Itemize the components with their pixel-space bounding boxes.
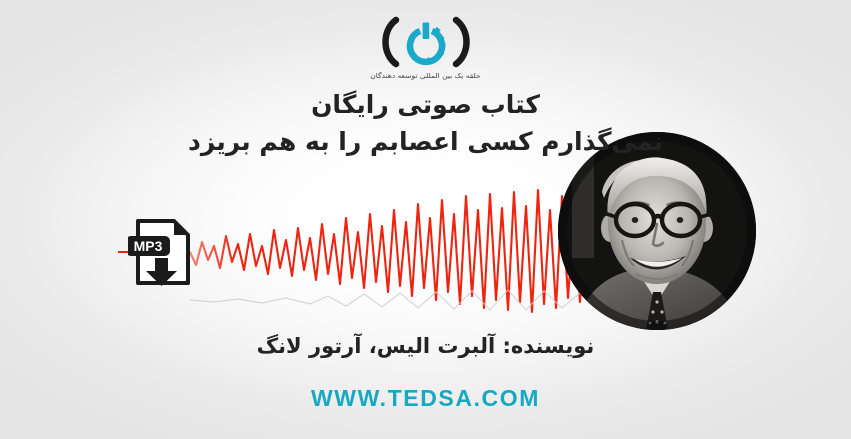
file-folded-corner bbox=[174, 221, 188, 235]
eye-right bbox=[677, 217, 684, 223]
eye-left bbox=[632, 217, 639, 223]
power-button-icon bbox=[374, 14, 478, 70]
mp3-download-file-icon[interactable]: MP3 bbox=[128, 218, 194, 286]
headings-block: کتاب صوتی رایگان نمی‌گذارم کسی اعصابم را… bbox=[0, 88, 851, 159]
mp3-badge-label: MP3 bbox=[134, 238, 163, 254]
page-title-line2: نمی‌گذارم کسی اعصابم را به هم بریزد bbox=[0, 125, 851, 159]
bracket-left bbox=[385, 20, 396, 64]
logo-caption-text: حلقه یک بین المللی توسعه دهندگان bbox=[370, 71, 480, 79]
website-url-link[interactable]: WWW.TEDSA.COM bbox=[0, 385, 851, 412]
bracket-right bbox=[456, 20, 467, 64]
author-portrait-albert-ellis bbox=[558, 132, 756, 330]
author-credit: نویسنده: آلبرت الیس، آرتور لانگ bbox=[0, 334, 851, 358]
brand-logo[interactable]: حلقه یک بین المللی توسعه دهندگان bbox=[0, 14, 851, 80]
audiobook-promo-banner: حلقه یک بین المللی توسعه دهندگان کتاب صو… bbox=[0, 0, 851, 439]
power-stem bbox=[422, 23, 429, 40]
page-title-line1: کتاب صوتی رایگان bbox=[0, 88, 851, 121]
